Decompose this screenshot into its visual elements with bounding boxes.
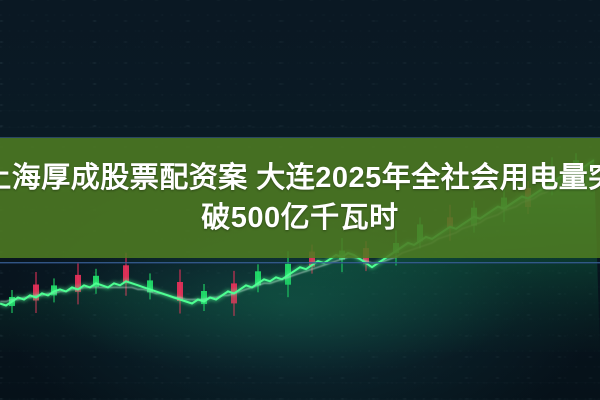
headline-line-2: 破500亿千瓦时	[201, 198, 398, 238]
banner-bottom-divider	[0, 262, 600, 263]
screenshot-canvas: 上海厚成股票配资案 大连2025年全社会用电量突 破500亿千瓦时	[0, 0, 600, 400]
headline-line-1: 上海厚成股票配资案 大连2025年全社会用电量突	[0, 158, 600, 198]
headline-banner: 上海厚成股票配资案 大连2025年全社会用电量突 破500亿千瓦时	[0, 138, 600, 258]
